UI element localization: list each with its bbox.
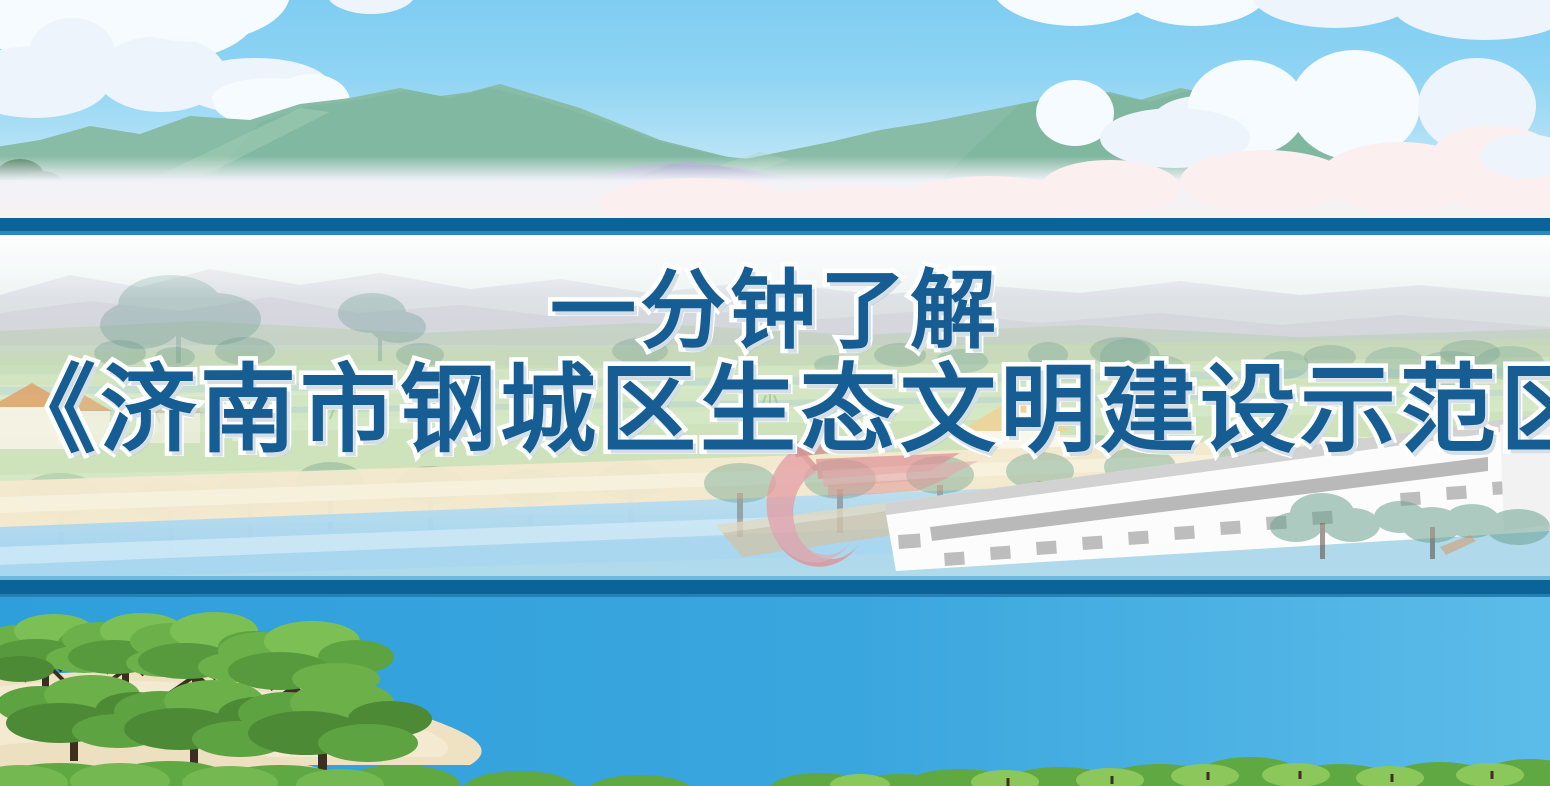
lakeshore-scene	[0, 597, 1550, 786]
divider-bar-top	[0, 218, 1550, 231]
poster-canvas: 一分钟了解 《济南市钢城区生态文明建设示范区规划	[0, 0, 1550, 786]
valley-band	[0, 235, 1550, 580]
valley-scene	[0, 235, 1550, 580]
sky-band	[0, 0, 1550, 218]
water-band	[0, 597, 1550, 786]
divider-bar-bottom	[0, 580, 1550, 594]
